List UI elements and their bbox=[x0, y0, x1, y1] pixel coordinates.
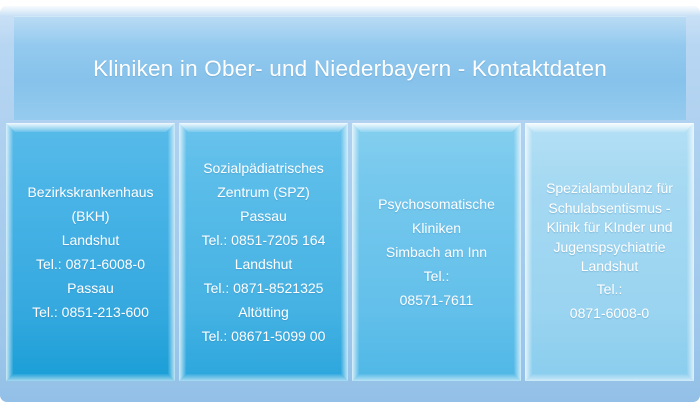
clinic-card-text: Bezirkskrankenhaus (BKH) Landshut Tel.: … bbox=[12, 180, 169, 324]
clinic-detail-line: Tel.: 08671-5099 00 bbox=[185, 324, 342, 348]
clinic-title: Psychosomatische Kliniken bbox=[358, 192, 515, 240]
panel-gloss bbox=[0, 6, 700, 16]
clinic-detail-line: 0871-6008-0 bbox=[531, 301, 688, 325]
slide-canvas: Kliniken in Ober- und Niederbayern - Kon… bbox=[0, 0, 700, 408]
card-bevel-right bbox=[687, 123, 694, 381]
clinic-detail-line: Landshut bbox=[185, 252, 342, 276]
card-bevel-bottom bbox=[179, 374, 348, 381]
clinic-card-text: Sozialpädiatrisches Zentrum (SPZ) Passau… bbox=[185, 156, 342, 348]
clinic-detail-line: Passau bbox=[12, 276, 169, 300]
clinic-detail-line: Passau bbox=[185, 204, 342, 228]
clinic-detail-line: Tel.: bbox=[358, 264, 515, 288]
clinic-card-text: Psychosomatische Kliniken Simbach am Inn… bbox=[358, 192, 515, 312]
clinic-card-sozialpaediatrisches-zentrum[interactable]: Sozialpädiatrisches Zentrum (SPZ) Passau… bbox=[179, 123, 348, 381]
clinic-detail-line: Tel.: 0851-213-600 bbox=[12, 300, 169, 324]
clinic-card-psychosomatische-kliniken[interactable]: Psychosomatische Kliniken Simbach am Inn… bbox=[352, 123, 521, 381]
clinic-detail-line: Altötting bbox=[185, 300, 342, 324]
clinic-card-spezialambulanz-schulabsentismus[interactable]: Spezialambulanz für Schulabsentismus - K… bbox=[525, 123, 694, 381]
clinic-title: Sozialpädiatrisches Zentrum (SPZ) bbox=[185, 156, 342, 204]
clinic-detail-line: Simbach am Inn bbox=[358, 240, 515, 264]
page-title: Kliniken in Ober- und Niederbayern - Kon… bbox=[93, 56, 607, 82]
clinic-detail-line: Tel.: 0871-6008-0 bbox=[12, 252, 169, 276]
clinic-card-row: Bezirkskrankenhaus (BKH) Landshut Tel.: … bbox=[6, 123, 694, 381]
clinic-detail-line: Tel.: bbox=[531, 277, 688, 301]
clinic-title: Spezialambulanz für Schulabsentismus - K… bbox=[531, 179, 688, 277]
card-bevel-bottom bbox=[352, 374, 521, 381]
card-bevel-bottom bbox=[6, 374, 175, 381]
card-bevel-right bbox=[514, 123, 521, 381]
clinic-card-bezirkskrankenhaus[interactable]: Bezirkskrankenhaus (BKH) Landshut Tel.: … bbox=[6, 123, 175, 381]
card-bevel-right bbox=[341, 123, 348, 381]
clinic-detail-line: Landshut bbox=[12, 228, 169, 252]
clinic-detail-line: 08571-7611 bbox=[358, 288, 515, 312]
clinic-detail-line: Tel.: 0851-7205 164 bbox=[185, 228, 342, 252]
card-bevel-right bbox=[168, 123, 175, 381]
clinic-detail-line: Tel.: 0871-8521325 bbox=[185, 276, 342, 300]
header-band: Kliniken in Ober- und Niederbayern - Kon… bbox=[14, 16, 686, 120]
clinic-card-text: Spezialambulanz für Schulabsentismus - K… bbox=[531, 179, 688, 325]
card-bevel-bottom bbox=[525, 374, 694, 381]
clinic-title: Bezirkskrankenhaus (BKH) bbox=[12, 180, 169, 228]
